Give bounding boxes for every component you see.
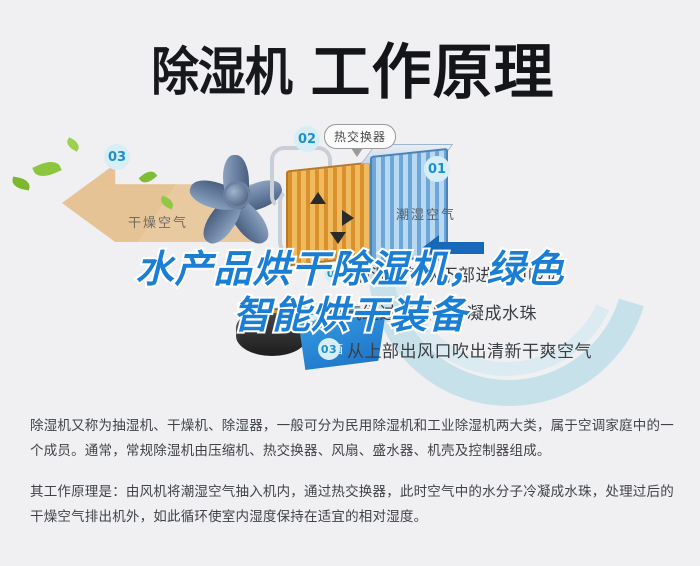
step-text: 潮湿空气从下部进风口吸进 [353, 261, 563, 286]
step-item: 01 潮湿空气从下部进风口吸进 [324, 254, 700, 292]
step-text: 空气经过蒸发器冷凝成水珠 [327, 299, 537, 324]
flow-arrow-icon [310, 192, 326, 204]
poster-canvas: 除湿机工作原理 干燥空气 [0, 0, 700, 566]
humid-air-label: 潮湿空气 [396, 204, 456, 223]
title-part-two: 工作原理 [311, 24, 555, 111]
intake-arrow-icon [438, 242, 484, 254]
diagram-badge-01: 01 [424, 156, 450, 182]
step-item: 03 从上部出风口吹出清新干爽空气 [318, 330, 700, 368]
flow-arrow-icon [342, 210, 354, 226]
leaf-icon [32, 157, 61, 180]
dry-air-label: 干燥空气 [128, 212, 188, 231]
heat-exchanger-callout: 热交换器 [324, 124, 396, 149]
title-part-one: 除湿机 [152, 30, 293, 105]
step-text: 从上部出风口吹出清新干爽空气 [347, 337, 592, 362]
leaf-icon [11, 177, 31, 191]
diagram-badge-03: 03 [104, 144, 130, 170]
step-badge: 02 [298, 300, 320, 322]
flow-arrow-icon [330, 232, 346, 244]
condenser-coil [286, 161, 372, 266]
step-list: 01 潮湿空气从下部进风口吸进 02 空气经过蒸发器冷凝成水珠 03 从上部出风… [270, 254, 700, 368]
leaf-icon [139, 168, 158, 186]
page-title: 除湿机工作原理 [0, 24, 700, 111]
body-paragraph-2: 其工作原理是：由风机将潮湿空气抽入机内，通过热交换器，此时空气中的水分子冷凝成水… [30, 480, 678, 530]
diagram-badge-02: 02 [294, 126, 320, 152]
step-badge: 01 [324, 262, 346, 284]
step-badge: 03 [318, 338, 340, 360]
body-paragraph-1: 除湿机又称为抽湿机、干燥机、除湿器，一般可分为民用除湿机和工业除湿机两大类，属于… [30, 414, 678, 464]
step-item: 02 空气经过蒸发器冷凝成水珠 [298, 292, 700, 330]
body-copy: 除湿机又称为抽湿机、干燥机、除湿器，一般可分为民用除湿机和工业除湿机两大类，属于… [30, 414, 678, 530]
leaf-icon [65, 137, 82, 152]
